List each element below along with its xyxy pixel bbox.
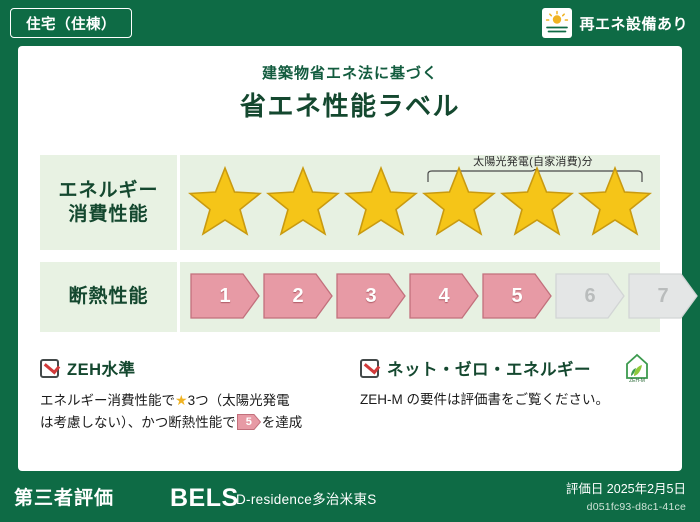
insulation-row: 断熱性能 1 2 [40,262,660,332]
label-page: 住宅（住棟） 再エネ設備あり 建築物省エネ法に基づく [0,0,700,522]
star-icon [578,163,652,241]
third-party-eval-label: 第三者評価 [14,483,114,510]
insulation-level-1: 1 [190,273,260,319]
insulation-level-3: 3 [336,273,406,319]
insulation-levels: 1 2 3 4 [190,273,698,319]
insulation-level-2-num: 2 [292,285,303,308]
energy-performance-label-line1: エネルギー [58,179,158,203]
insulation-level-2: 2 [263,273,333,319]
zeh-standard-chev-value: 5 [237,414,261,430]
zeh-standard-body-line2-pre: は考慮しない）、かつ断熱性能で [40,415,236,430]
star-icon [422,163,496,241]
net-zero-energy-block: ネット・ゼロ・エネルギー ZEH-M ZEH-M の要件は評価書をご覧ください。 [360,356,660,411]
net-zero-energy-body: ZEH-M の要件は評価書をご覧ください。 [360,389,660,411]
insulation-level-3-num: 3 [365,285,376,308]
eval-id: d051fc93-d8c1-41ce [587,501,686,513]
insulation-level-5-num: 5 [511,285,522,308]
energy-performance-label-line2: 消費性能 [68,203,148,227]
insulation-label: 断熱性能 [40,262,180,332]
badge-house-type: 住宅（住棟） [10,8,132,38]
heading-sub: 建築物省エネ法に基づく [0,62,700,83]
badge-renewable-label: 再エネ設備あり [579,13,688,34]
star-icon [500,163,574,241]
insulation-level-1-num: 1 [219,285,230,308]
insulation-label-text: 断熱性能 [68,285,148,309]
sun-icon [542,8,572,38]
badge-renewable: 再エネ設備あり [542,6,688,40]
insulation-levels-area: 1 2 3 4 [180,262,660,332]
zeh-standard-body-line2-post: を達成 [262,415,303,430]
eval-date: 評価日 2025年2月5日 [566,478,686,497]
net-zero-energy-title: ネット・ゼロ・エネルギー [387,356,591,380]
star-icon [188,163,262,241]
zeh-standard-head: ZEH水準 [40,356,340,380]
energy-performance-label: エネルギー 消費性能 [40,155,180,250]
checkmark-icon [40,359,59,378]
insulation-level-6-num: 6 [584,285,595,308]
energy-performance-row: エネルギー 消費性能 太陽光発電(自家消費)分 [40,155,660,250]
star-icon: ★ [175,392,188,408]
page-title: 省エネ性能ラベル [0,86,700,123]
insulation-level-4-num: 4 [438,285,449,308]
insulation-level-4: 4 [409,273,479,319]
star-icon [266,163,340,241]
svg-text:ZEH-M: ZEH-M [629,378,645,384]
insulation-level-6: 6 [555,273,625,319]
star-icon [344,163,418,241]
insulation-level-7-num: 7 [657,285,668,308]
insulation-level-7: 7 [628,273,698,319]
net-zero-energy-head: ネット・ゼロ・エネルギー ZEH-M [360,356,660,380]
insulation-chevron-icon: 5 [237,414,261,430]
checkmark-icon [360,359,379,378]
energy-stars [188,163,652,241]
zehm-house-icon: ZEH-M [614,350,660,384]
zeh-standard-body-mid: 3つ（太陽光発電 [188,393,290,408]
footer: 第三者評価 BELS D-residence多治米東S 評価日 2025年2月5… [0,471,700,522]
insulation-level-5: 5 [482,273,552,319]
zeh-standard-title: ZEH水準 [67,356,136,380]
property-name: D-residence多治米東S [236,488,377,508]
zeh-standard-block: ZEH水準 エネルギー消費性能で★3つ（太陽光発電 は考慮しない）、かつ断熱性能… [40,356,340,435]
badge-house-type-label: 住宅（住棟） [26,13,116,34]
zeh-standard-body: エネルギー消費性能で★3つ（太陽光発電 は考慮しない）、かつ断熱性能で 5 を達… [40,389,340,435]
energy-stars-area: 太陽光発電(自家消費)分 [180,155,660,250]
zeh-standard-body-pre: エネルギー消費性能で [40,393,175,408]
bels-logo: BELS [170,484,239,513]
